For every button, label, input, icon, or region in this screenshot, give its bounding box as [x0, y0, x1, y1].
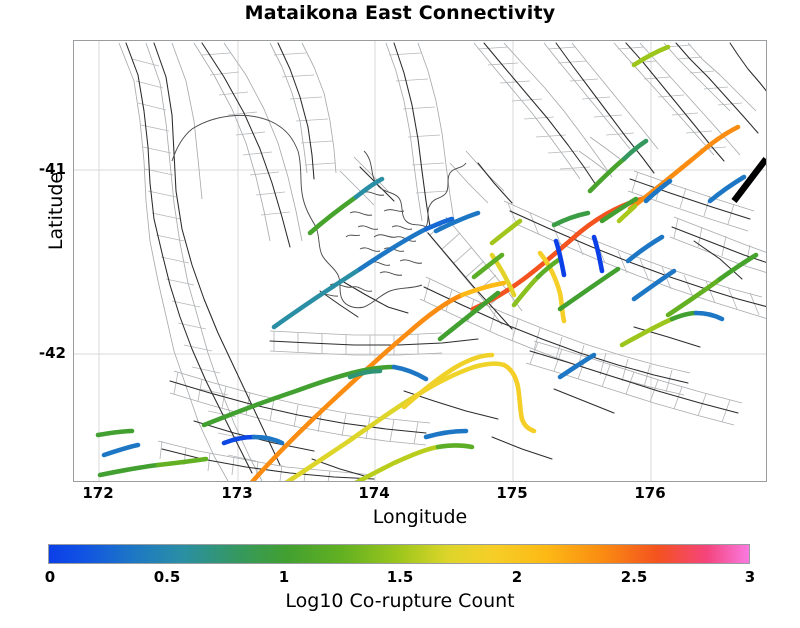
fault-segment	[224, 437, 254, 443]
fault-segment	[628, 237, 662, 261]
fault-segment	[634, 271, 674, 299]
colorbar-tick: 1.5	[387, 568, 414, 586]
xtick-label: 172	[82, 484, 113, 502]
fault-segment	[624, 141, 646, 159]
map-canvas	[74, 41, 767, 482]
colorbar-label: Log10 Co-rupture Count	[0, 590, 800, 612]
colorbar[interactable]	[48, 544, 750, 564]
colorbar-tick: 1	[279, 568, 289, 586]
map-plot-area[interactable]	[73, 40, 767, 482]
fault-segment	[672, 313, 696, 319]
gridlines	[74, 41, 767, 482]
y-axis-label: Latitude	[45, 121, 67, 301]
xtick-label: 173	[221, 484, 252, 502]
fault-segment	[622, 319, 672, 345]
fault-segment	[426, 431, 466, 437]
fault-segment	[254, 437, 282, 443]
colorbar-tick: 0.5	[154, 568, 181, 586]
fault-network-major	[126, 43, 767, 479]
colorbar-tick: 2	[512, 568, 522, 586]
xtick-label: 175	[496, 484, 527, 502]
ytick-label: -42	[0, 344, 66, 362]
x-axis-label: Longitude	[73, 506, 767, 528]
fault-segment	[438, 446, 472, 448]
fault-network-background	[119, 43, 767, 482]
fault-segment	[560, 269, 618, 309]
fault-segment	[492, 221, 520, 243]
fault-segment	[356, 179, 382, 197]
fault-segment	[204, 373, 352, 425]
colorbar-tick: 0	[45, 568, 55, 586]
fault-segment	[696, 313, 722, 319]
fault-segment	[310, 197, 356, 233]
fault-segment	[522, 419, 534, 431]
fault-segment	[158, 459, 206, 465]
xtick-label: 174	[358, 484, 389, 502]
fault-segment	[560, 355, 594, 377]
fault-segment	[404, 355, 492, 407]
fault-segment	[100, 465, 158, 475]
fault-segment	[98, 431, 132, 435]
colorbar-tick: 2.5	[621, 568, 648, 586]
fault-segment	[394, 367, 426, 379]
figure-root: Mataikona East Connectivity	[0, 0, 800, 628]
fault-segment	[590, 159, 624, 191]
page-title: Mataikona East Connectivity	[0, 2, 800, 24]
fault-segment	[104, 445, 138, 455]
fault-segment	[554, 213, 588, 225]
fault-segment	[274, 269, 360, 327]
colorbar-tick: 3	[745, 568, 755, 586]
coastline	[172, 115, 466, 307]
xtick-label: 176	[634, 484, 665, 502]
